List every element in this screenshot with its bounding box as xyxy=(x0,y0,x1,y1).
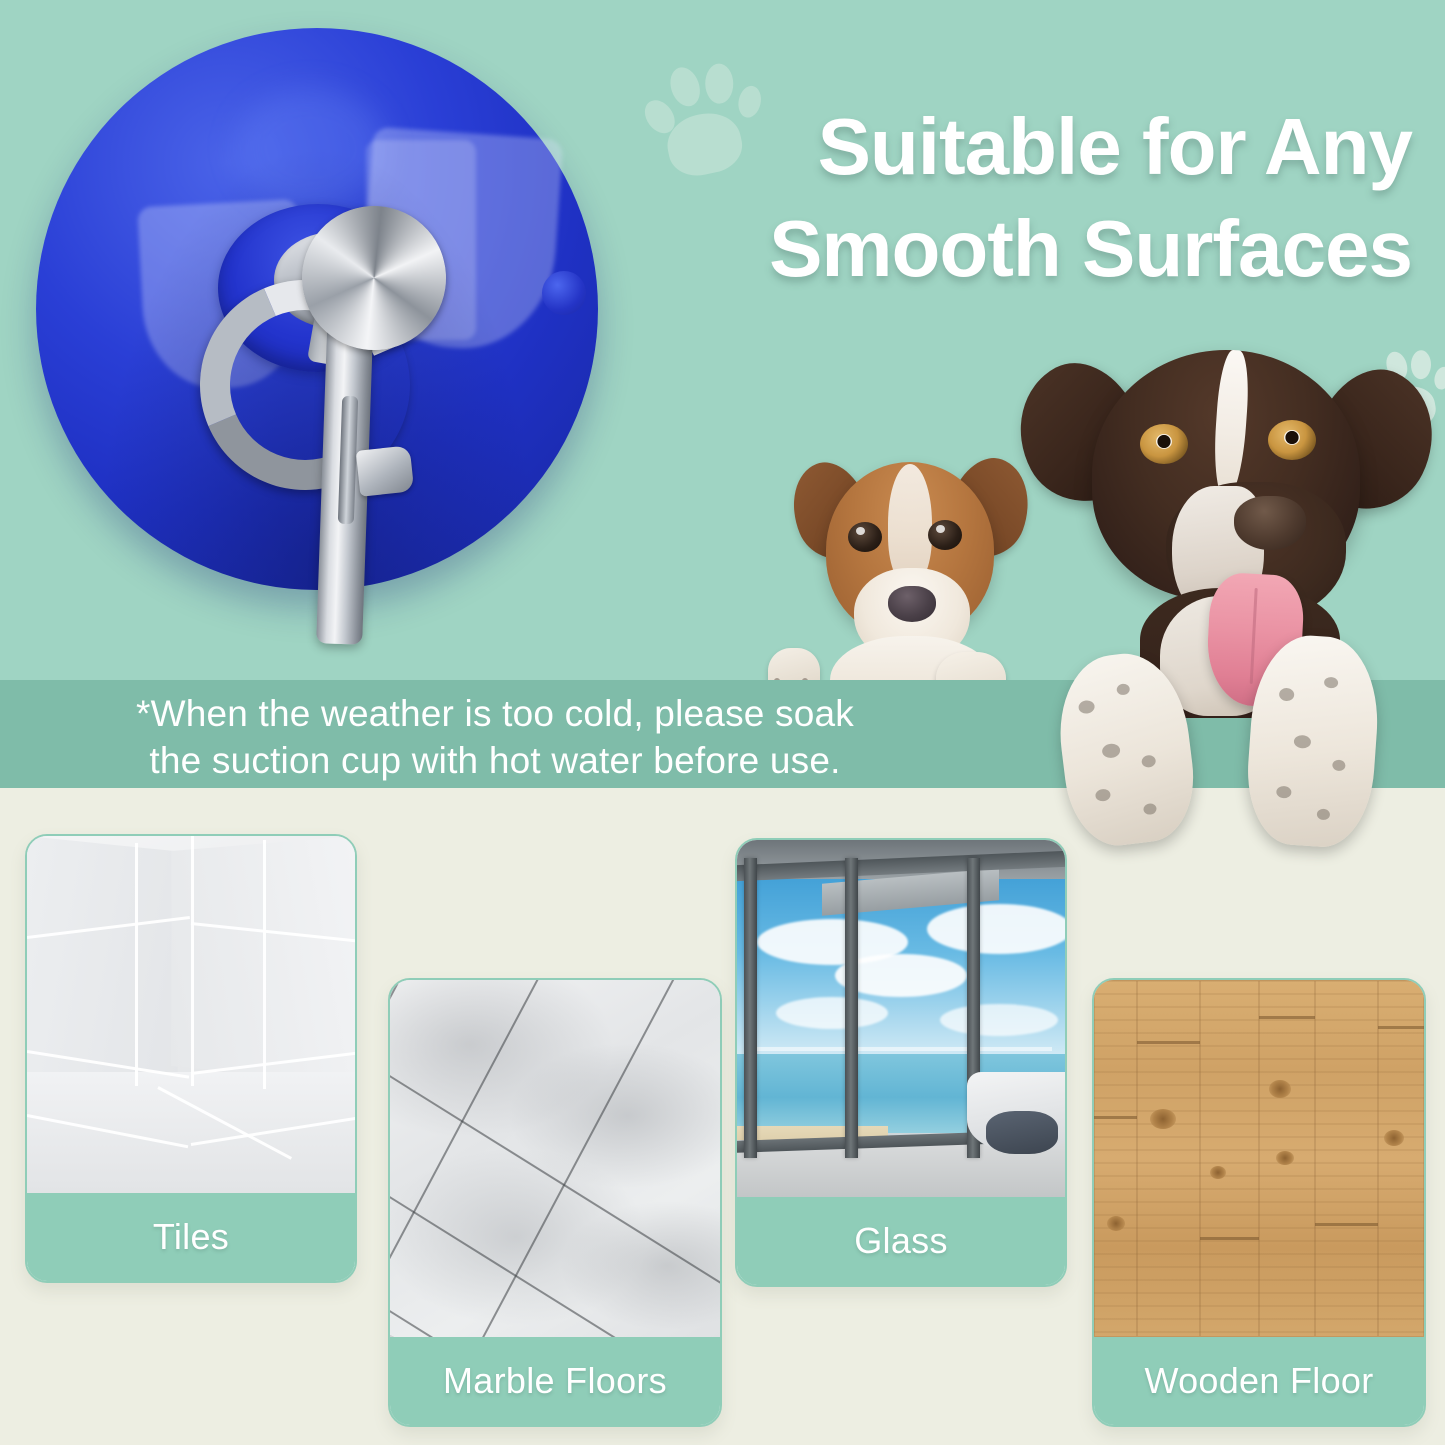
suction-cup-product-image xyxy=(22,18,622,680)
snap-hook-thumb-latch xyxy=(356,445,415,496)
glass-image xyxy=(737,840,1065,1197)
card-label: Glass xyxy=(737,1197,1065,1285)
page-title: Suitable for Any Smooth Surfaces xyxy=(672,96,1412,301)
wood-image xyxy=(1094,980,1424,1337)
tiles-image xyxy=(27,836,355,1193)
surface-card-wooden-floor[interactable]: Wooden Floor xyxy=(1092,978,1426,1427)
surface-card-marble-floors[interactable]: Marble Floors xyxy=(388,978,722,1427)
headline-line-1: Suitable for Any xyxy=(818,102,1412,191)
card-label: Wooden Floor xyxy=(1094,1337,1424,1425)
card-label: Marble Floors xyxy=(390,1337,720,1425)
note-line-2: the suction cup with hot water before us… xyxy=(0,737,990,784)
surface-card-glass[interactable]: Glass xyxy=(735,838,1067,1287)
marble-image xyxy=(390,980,720,1337)
dog-pointer-mix xyxy=(1020,336,1430,856)
card-label: Tiles xyxy=(27,1193,355,1281)
surface-card-tiles[interactable]: Tiles xyxy=(25,834,357,1283)
infographic-root: Suitable for Any Smooth Surfaces xyxy=(0,0,1445,1445)
note-line-1: *When the weather is too cold, please so… xyxy=(136,693,854,734)
suction-cup-nub xyxy=(542,271,586,315)
headline-line-2: Smooth Surfaces xyxy=(672,198,1412,300)
